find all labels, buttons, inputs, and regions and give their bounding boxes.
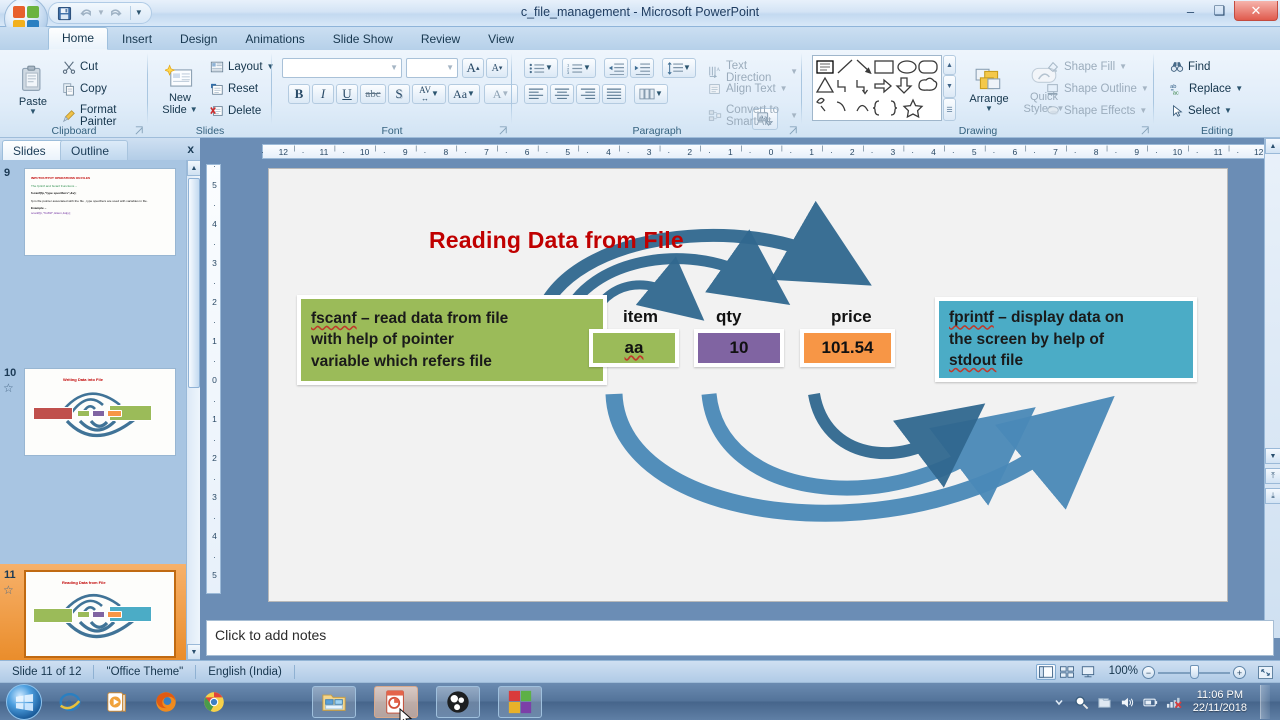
line-spacing-dropdown-icon[interactable]: ▼ bbox=[683, 64, 691, 72]
grow-font-label: A bbox=[467, 60, 476, 76]
font-size-dropdown-icon[interactable]: ▼ bbox=[446, 64, 454, 72]
close-button[interactable]: ✕ bbox=[1234, 1, 1278, 21]
font-color-dropdown-icon[interactable]: ▼ bbox=[501, 90, 509, 98]
tab-design[interactable]: Design bbox=[166, 27, 231, 50]
tab-review[interactable]: Review bbox=[407, 27, 474, 50]
vruler-tick: · bbox=[207, 513, 222, 523]
layout-icon bbox=[210, 60, 224, 74]
tab-insert[interactable]: Insert bbox=[108, 27, 166, 50]
hruler-tick: · bbox=[830, 147, 833, 157]
hruler-tick: · bbox=[424, 147, 427, 157]
replace-button[interactable]: abac Replace ▼ bbox=[1166, 80, 1247, 98]
font-dialog-launcher-icon[interactable] bbox=[498, 125, 509, 136]
cut-button[interactable]: Cut bbox=[58, 58, 102, 76]
vruler-tick: · bbox=[207, 200, 222, 210]
fprintf-stdout: stdout bbox=[949, 352, 996, 369]
status-bar: Slide 11 of 12 "Office Theme" English (I… bbox=[0, 660, 1280, 682]
normal-view-icon[interactable] bbox=[1036, 664, 1056, 680]
hruler-minor-tick: | bbox=[700, 146, 702, 152]
columns-dropdown-icon[interactable]: ▼ bbox=[655, 90, 663, 98]
svg-text:ac: ac bbox=[1173, 90, 1179, 96]
view-buttons[interactable] bbox=[1036, 664, 1098, 680]
windows-logo-icon bbox=[15, 693, 34, 712]
zoom-level: 100% bbox=[1109, 665, 1138, 677]
vruler-tick: · bbox=[207, 278, 222, 288]
minimize-button[interactable]: – bbox=[1176, 1, 1205, 21]
zoom-slider[interactable]: − + bbox=[1142, 665, 1246, 679]
hruler-label: 0 bbox=[766, 147, 776, 157]
text-direction-dropdown-icon[interactable]: ▼ bbox=[790, 68, 798, 76]
fscanf-line3: variable which refers file bbox=[311, 353, 492, 370]
fit-slide-to-window-icon[interactable] bbox=[1256, 664, 1274, 680]
increase-indent-button[interactable] bbox=[630, 58, 654, 78]
variable-value-item: aa bbox=[625, 338, 644, 358]
variable-label-price: price bbox=[831, 307, 872, 327]
vruler-tick: · bbox=[207, 161, 222, 171]
hruler-tick: · bbox=[1196, 147, 1199, 157]
hruler-minor-tick: | bbox=[781, 146, 783, 152]
grow-font-button[interactable]: A ▴ bbox=[462, 58, 484, 78]
align-text-dropdown-icon[interactable]: ▼ bbox=[780, 85, 788, 93]
system-tray[interactable]: 11:06 PM 22/11/2018 bbox=[1051, 683, 1278, 720]
line-spacing-icon bbox=[667, 62, 683, 75]
new-slide-button[interactable]: New Slide ▼ bbox=[156, 56, 204, 124]
hruler-label: 11 bbox=[319, 147, 329, 157]
new-slide-label-2: Slide bbox=[162, 104, 186, 116]
hruler-label: 11 bbox=[1213, 147, 1223, 157]
tab-animations[interactable]: Animations bbox=[231, 27, 318, 50]
align-text-button[interactable]: Align Text ▼ bbox=[704, 80, 792, 98]
hruler-minor-tick: | bbox=[659, 146, 661, 152]
hruler-tick: · bbox=[464, 147, 467, 157]
next-slide-button[interactable]: ⤓ bbox=[1265, 488, 1280, 504]
thumbnail-preview-9: INPUT/OUTPUT OPERATIONS ON FILES The fpr… bbox=[24, 168, 176, 256]
layout-label: Layout bbox=[228, 61, 263, 73]
smartart-dropdown-icon[interactable]: ▼ bbox=[790, 112, 798, 120]
hruler-minor-tick: | bbox=[578, 146, 580, 152]
previous-slide-button[interactable]: ⤒ bbox=[1265, 468, 1280, 484]
windows-explorer-icon[interactable] bbox=[312, 686, 356, 718]
hruler-minor-tick: | bbox=[1066, 146, 1068, 152]
clock-date: 22/11/2018 bbox=[1193, 702, 1247, 715]
vruler-tick: · bbox=[207, 317, 222, 327]
svg-text:e: e bbox=[66, 696, 72, 710]
arrange-dropdown-icon[interactable]: ▼ bbox=[985, 105, 993, 113]
ribbon-group-clipboard: Paste ▼ Cut Copy Format Painter bbox=[0, 50, 148, 138]
copy-button[interactable]: Copy bbox=[58, 80, 111, 98]
mini10-var-2 bbox=[92, 410, 105, 417]
vruler-tick: · bbox=[207, 396, 222, 406]
mini9-line-3: fscanf(fp,"type specifiers",&v); bbox=[31, 191, 169, 196]
italic-button[interactable]: I bbox=[312, 84, 334, 104]
font-size-input[interactable]: ▼ bbox=[406, 58, 458, 78]
slide-counter: Slide 11 of 12 bbox=[0, 664, 93, 680]
vruler-label: 1 bbox=[207, 414, 222, 424]
slide-title[interactable]: Reading Data from File bbox=[429, 227, 684, 254]
shape-outline-dropdown-icon[interactable]: ▼ bbox=[1141, 85, 1149, 93]
hruler-minor-tick: | bbox=[1106, 146, 1108, 152]
firefox-icon[interactable] bbox=[144, 686, 188, 718]
hruler-minor-tick: | bbox=[862, 146, 864, 152]
thumbnail-scroll-thumb[interactable] bbox=[188, 178, 200, 388]
hruler-minor-tick: | bbox=[944, 146, 946, 152]
hruler-minor-tick: | bbox=[456, 146, 458, 152]
hruler-tick: · bbox=[1033, 147, 1036, 157]
variable-box-qty[interactable]: 10 bbox=[694, 329, 784, 367]
shape-fill-icon bbox=[1046, 60, 1060, 74]
scissors-icon bbox=[62, 60, 76, 74]
reset-button[interactable]: Reset bbox=[206, 80, 262, 98]
ribbon-group-slides: New Slide ▼ Layout ▼ Reset bbox=[148, 50, 272, 138]
paste-dropdown-icon[interactable]: ▼ bbox=[29, 108, 37, 116]
hruler-minor-tick: | bbox=[903, 146, 905, 152]
select-dropdown-icon[interactable]: ▼ bbox=[1224, 107, 1232, 115]
hruler-label: 4 bbox=[929, 147, 939, 157]
tab-view[interactable]: View bbox=[474, 27, 528, 50]
thumbnail-number-10: 10 bbox=[4, 367, 16, 379]
text-direction-icon: A bbox=[708, 65, 722, 79]
hruler-tick: · bbox=[993, 147, 996, 157]
battery-icon[interactable] bbox=[1143, 694, 1159, 710]
hruler-label: 1 bbox=[807, 147, 817, 157]
align-center-icon bbox=[554, 88, 570, 100]
colored-squares-app-icon[interactable] bbox=[498, 686, 542, 718]
arrange-button[interactable]: Arrange ▼ bbox=[962, 56, 1016, 124]
find-button[interactable]: Find bbox=[1166, 58, 1214, 76]
bullets-button[interactable]: ▼ bbox=[524, 58, 558, 78]
hruler-minor-tick: | bbox=[415, 146, 417, 152]
copy-icon bbox=[62, 82, 76, 96]
variable-box-price[interactable]: 101.54 bbox=[800, 329, 895, 367]
shapes-scroll-up-icon[interactable]: ▲ bbox=[943, 55, 956, 75]
text-shadow-button[interactable]: S bbox=[388, 84, 410, 104]
fscanf-box-text: fscanf – read data from file with help o… bbox=[301, 302, 518, 378]
align-text-label: Align Text bbox=[726, 83, 776, 95]
slide-scroll-up-icon[interactable]: ▲ bbox=[1265, 138, 1280, 154]
onedrive-icon[interactable] bbox=[1097, 694, 1113, 710]
shapes-more-icon[interactable]: ☰ bbox=[943, 98, 956, 121]
zoom-in-button[interactable]: + bbox=[1233, 666, 1246, 679]
thumbnail-number-11: 11 bbox=[4, 569, 16, 581]
notes-placeholder: Click to add notes bbox=[207, 621, 1273, 649]
mini11-var-1 bbox=[77, 611, 90, 618]
vruler-label: 3 bbox=[207, 258, 222, 268]
slide-vertical-scrollbar[interactable]: ▲ ▼ ⤒ ⤓ bbox=[1264, 138, 1280, 638]
slides-panel: Slides Outline x 9 INPUT/OUTPUT OPERATIO… bbox=[0, 138, 200, 660]
hruler-label: 6 bbox=[522, 147, 532, 157]
svg-text:A: A bbox=[716, 67, 720, 73]
columns-button[interactable]: ▼ bbox=[634, 84, 668, 104]
hruler-tick: · bbox=[586, 147, 589, 157]
hruler-tick: · bbox=[749, 147, 752, 157]
vruler-label: 0 bbox=[207, 375, 222, 385]
svg-text:ab: ab bbox=[1170, 84, 1176, 90]
slide-scroll-down-icon[interactable]: ▼ bbox=[1265, 448, 1280, 464]
hruler-tick: · bbox=[952, 147, 955, 157]
delete-slide-button[interactable]: Delete bbox=[206, 102, 265, 120]
windows-media-player-icon[interactable] bbox=[96, 686, 140, 718]
variable-label-item: item bbox=[623, 307, 658, 327]
fprintf-box-text: fprintf – display data on the screen by … bbox=[939, 301, 1134, 377]
thumbnail-scroll-up-icon[interactable]: ▲ bbox=[187, 160, 201, 176]
slide-show-icon[interactable] bbox=[1078, 664, 1098, 680]
hruler-minor-tick: | bbox=[1228, 146, 1230, 152]
hruler-minor-tick: | bbox=[1025, 146, 1027, 152]
hruler-label: 2 bbox=[685, 147, 695, 157]
notes-pane[interactable]: Click to add notes bbox=[206, 620, 1274, 656]
fprintf-line3-rest: file bbox=[996, 352, 1023, 369]
language-indicator[interactable]: English (India) bbox=[196, 664, 294, 680]
ribbon-group-drawing: ▲ ▼ ☰ Arrange ▼ Quick bbox=[802, 50, 1154, 138]
chrome-icon[interactable] bbox=[192, 686, 236, 718]
window-controls[interactable]: – ❑ ✕ bbox=[1176, 1, 1278, 21]
shadow-label: S bbox=[395, 86, 402, 102]
hruler-tick: · bbox=[911, 147, 914, 157]
fprintf-keyword: fprintf bbox=[949, 309, 994, 326]
slides-panel-tabs: Slides Outline x bbox=[0, 138, 200, 160]
mouse-cursor-icon bbox=[399, 708, 413, 720]
font-name-dropdown-icon[interactable]: ▼ bbox=[390, 64, 398, 72]
mini9-line-2: The fprintf and fscanf Functions – bbox=[31, 184, 169, 189]
start-button[interactable] bbox=[6, 684, 42, 720]
maximize-button[interactable]: ❑ bbox=[1205, 1, 1234, 21]
font-group-label: Font bbox=[272, 125, 512, 137]
slide-editing-area: 12·|11·|10·|9·|8·|7·|6·|5·|4·|3·|2·|1·|0… bbox=[200, 138, 1280, 660]
bold-button[interactable]: B bbox=[288, 84, 310, 104]
shapes-scroll-down-icon[interactable]: ▼ bbox=[943, 75, 956, 98]
cursor-arrow-icon bbox=[1170, 104, 1184, 118]
clipboard-dialog-launcher-icon[interactable] bbox=[134, 125, 145, 136]
new-slide-dropdown-icon[interactable]: ▼ bbox=[190, 106, 198, 114]
vruler-label: 4 bbox=[207, 219, 222, 229]
drawing-group-label: Drawing bbox=[802, 125, 1154, 137]
close-panel-icon[interactable]: x bbox=[187, 142, 194, 156]
change-case-dropdown-icon[interactable]: ▼ bbox=[467, 90, 475, 98]
tab-slide-show[interactable]: Slide Show bbox=[319, 27, 407, 50]
tab-outline[interactable]: Outline bbox=[60, 140, 128, 160]
slide-thumbnail-list[interactable]: 9 INPUT/OUTPUT OPERATIONS ON FILES The f… bbox=[0, 160, 186, 660]
zoom-handle[interactable] bbox=[1190, 665, 1199, 679]
character-spacing-dropdown-icon[interactable]: ▼ bbox=[431, 90, 439, 98]
hruler-tick: · bbox=[871, 147, 874, 157]
tab-home[interactable]: Home bbox=[48, 27, 108, 50]
columns-icon bbox=[639, 88, 655, 100]
bullets-icon bbox=[529, 62, 545, 75]
paragraph-group-label: Paragraph bbox=[512, 125, 802, 137]
vruler-tick: · bbox=[207, 552, 222, 562]
hruler-minor-tick: | bbox=[537, 146, 539, 152]
variable-value-price: 101.54 bbox=[822, 338, 874, 358]
numbering-button[interactable]: 123 ▼ bbox=[562, 58, 596, 78]
hruler-minor-tick: | bbox=[1147, 146, 1149, 152]
hruler-minor-tick: | bbox=[741, 146, 743, 152]
thumbnail-preview-10: Writing Data into File bbox=[24, 368, 176, 456]
hruler-tick: · bbox=[789, 147, 792, 157]
shape-fill-button[interactable]: Shape Fill ▼ bbox=[1042, 58, 1131, 76]
paragraph-dialog-launcher-icon[interactable] bbox=[788, 125, 799, 136]
replace-dropdown-icon[interactable]: ▼ bbox=[1235, 85, 1243, 93]
binoculars-icon bbox=[1170, 60, 1184, 74]
justify-icon bbox=[606, 88, 622, 100]
hruler-label: 7 bbox=[1050, 147, 1060, 157]
strikethrough-button[interactable]: abc bbox=[360, 84, 386, 104]
thumbnail-slide-9[interactable]: 9 INPUT/OUTPUT OPERATIONS ON FILES The f… bbox=[0, 162, 186, 263]
vruler-label: 5 bbox=[207, 570, 222, 580]
magnifier-icon[interactable] bbox=[1074, 694, 1090, 710]
mini11-var-2 bbox=[92, 611, 105, 618]
shape-effects-button[interactable]: Shape Effects ▼ bbox=[1042, 102, 1151, 120]
horizontal-ruler: 12·|11·|10·|9·|8·|7·|6·|5·|4·|3·|2·|1·|0… bbox=[262, 144, 1278, 159]
mini10-var-1 bbox=[77, 410, 90, 417]
replace-label: Replace bbox=[1189, 83, 1231, 95]
shapes-gallery-scrollbar[interactable]: ▲ ▼ ☰ bbox=[943, 55, 956, 121]
paintbrush-icon bbox=[62, 109, 76, 123]
italic-label: I bbox=[321, 86, 325, 102]
obs-studio-icon[interactable] bbox=[436, 686, 480, 718]
character-spacing-button[interactable]: AV↔ ▼ bbox=[412, 84, 446, 104]
numbering-icon: 123 bbox=[567, 62, 583, 75]
shape-outline-button[interactable]: Shape Outline ▼ bbox=[1042, 80, 1153, 98]
reset-icon bbox=[210, 82, 224, 96]
thumbnail-scroll-down-icon[interactable]: ▼ bbox=[187, 644, 201, 660]
shape-effects-dropdown-icon[interactable]: ▼ bbox=[1139, 107, 1147, 115]
line-spacing-button[interactable]: ▼ bbox=[662, 58, 696, 78]
select-button[interactable]: Select ▼ bbox=[1166, 102, 1236, 120]
ribbon: Paste ▼ Cut Copy Format Painter bbox=[0, 50, 1280, 138]
title-bar: ▼ ▼ c_file_management - Microsoft PowerP… bbox=[0, 0, 1280, 27]
align-text-icon bbox=[708, 82, 722, 96]
hidden-icons-icon[interactable] bbox=[1051, 694, 1067, 710]
paste-button[interactable]: Paste ▼ bbox=[8, 56, 58, 124]
find-label: Find bbox=[1188, 61, 1210, 73]
thumbnail-scrollbar[interactable]: ▲ ▼ bbox=[186, 160, 200, 660]
paste-label: Paste bbox=[19, 96, 47, 108]
taskbar-clock[interactable]: 11:06 PM 22/11/2018 bbox=[1189, 689, 1251, 715]
variable-value-qty: 10 bbox=[730, 338, 749, 358]
vruler-label: 3 bbox=[207, 492, 222, 502]
decrease-indent-button[interactable] bbox=[604, 58, 628, 78]
smartart-icon bbox=[708, 109, 722, 123]
volume-icon[interactable] bbox=[1120, 694, 1136, 710]
hruler-label: 1 bbox=[725, 147, 735, 157]
paste-icon bbox=[19, 65, 47, 95]
underline-button[interactable]: U bbox=[336, 84, 358, 104]
font-name-input[interactable]: ▼ bbox=[282, 58, 402, 78]
align-center-button[interactable] bbox=[550, 84, 574, 104]
decrease-indent-icon bbox=[608, 62, 624, 75]
hruler-minor-tick: | bbox=[822, 146, 824, 152]
shape-outline-label: Shape Outline bbox=[1064, 83, 1137, 95]
fprintf-description-box[interactable]: fprintf – display data on the screen by … bbox=[935, 297, 1197, 382]
delete-label: Delete bbox=[228, 105, 261, 117]
taskbar: e bbox=[0, 682, 1280, 720]
zoom-out-button[interactable]: − bbox=[1142, 666, 1155, 679]
hruler-minor-tick: | bbox=[1188, 146, 1190, 152]
theme-name[interactable]: "Office Theme" bbox=[94, 664, 195, 680]
justify-button[interactable] bbox=[602, 84, 626, 104]
tab-slides[interactable]: Slides bbox=[2, 140, 64, 160]
hruler-tick: · bbox=[627, 147, 630, 157]
network-icon[interactable] bbox=[1166, 694, 1182, 710]
fscanf-description-box[interactable]: fscanf – read data from file with help o… bbox=[297, 295, 607, 385]
hruler-label: 6 bbox=[1010, 147, 1020, 157]
mini11-var-3 bbox=[107, 611, 122, 618]
hruler-label: 3 bbox=[644, 147, 654, 157]
variable-label-qty: qty bbox=[716, 307, 742, 327]
hruler-minor-tick: | bbox=[619, 146, 621, 152]
change-case-button[interactable]: Aa ▼ bbox=[448, 84, 480, 104]
hruler-tick: · bbox=[1236, 147, 1239, 157]
hruler-tick: · bbox=[545, 147, 548, 157]
animation-star-icon-11: ☆ bbox=[3, 583, 14, 597]
hruler-label: 3 bbox=[888, 147, 898, 157]
mini-slide-9: INPUT/OUTPUT OPERATIONS ON FILES The fpr… bbox=[25, 169, 175, 255]
copy-label: Copy bbox=[80, 83, 107, 95]
hruler-label: 9 bbox=[400, 147, 410, 157]
internet-explorer-icon[interactable]: e bbox=[48, 686, 92, 718]
layout-button[interactable]: Layout ▼ bbox=[206, 58, 278, 76]
hruler-label: 12 bbox=[278, 147, 288, 157]
reset-label: Reset bbox=[228, 83, 258, 95]
hruler-label: 10 bbox=[360, 147, 370, 157]
strikethrough-label: abc bbox=[365, 88, 380, 100]
vruler-tick: · bbox=[207, 435, 222, 445]
window-title: c_file_management - Microsoft PowerPoint bbox=[0, 5, 1280, 19]
shape-effects-icon bbox=[1046, 104, 1060, 118]
shapes-gallery[interactable] bbox=[812, 55, 942, 121]
select-label: Select bbox=[1188, 105, 1220, 117]
slide-canvas[interactable]: Reading Data from File fscanf – read dat… bbox=[268, 168, 1228, 602]
cut-label: Cut bbox=[80, 61, 98, 73]
slide-sorter-icon[interactable] bbox=[1057, 664, 1077, 680]
thumbnail-number-9: 9 bbox=[4, 167, 10, 179]
shrink-font-label: A bbox=[492, 63, 499, 74]
shrink-font-button[interactable]: A ▾ bbox=[486, 58, 508, 78]
bold-label: B bbox=[295, 86, 304, 102]
shape-fill-dropdown-icon[interactable]: ▼ bbox=[1119, 63, 1127, 71]
clock-time: 11:06 PM bbox=[1197, 689, 1243, 702]
arrange-icon bbox=[974, 67, 1004, 93]
hruler-label: 8 bbox=[441, 147, 451, 157]
show-desktop-button[interactable] bbox=[1260, 685, 1270, 719]
thumbnail-slide-11[interactable]: 11 ☆ Reading Data from File bbox=[0, 564, 186, 660]
align-left-button[interactable] bbox=[524, 84, 548, 104]
numbering-dropdown-icon[interactable]: ▼ bbox=[583, 64, 591, 72]
ribbon-group-font: ▼ ▼ A ▴ A ▾ B I U bbox=[272, 50, 512, 138]
hruler-label: 9 bbox=[1132, 147, 1142, 157]
mini9-line-1: INPUT/OUTPUT OPERATIONS ON FILES bbox=[31, 176, 169, 181]
vruler-tick: · bbox=[207, 474, 222, 484]
underline-label: U bbox=[342, 86, 351, 102]
variable-box-item[interactable]: aa bbox=[589, 329, 679, 367]
hruler-tick: · bbox=[1074, 147, 1077, 157]
hruler-minor-tick: | bbox=[293, 146, 295, 152]
vruler-label: 4 bbox=[207, 531, 222, 541]
mini-slide-10: Writing Data into File bbox=[25, 369, 175, 455]
svg-text:3: 3 bbox=[567, 70, 570, 75]
hruler-tick: · bbox=[1155, 147, 1158, 157]
align-right-button[interactable] bbox=[576, 84, 600, 104]
thumbnail-slide-10[interactable]: 10 ☆ Writing Data into File bbox=[0, 362, 186, 463]
align-left-icon bbox=[528, 88, 544, 100]
ribbon-group-editing: Find abac Replace ▼ Select ▼ Editing bbox=[1154, 50, 1280, 138]
shape-effects-label: Shape Effects bbox=[1064, 105, 1135, 117]
bullets-dropdown-icon[interactable]: ▼ bbox=[545, 64, 553, 72]
slides-group-label: Slides bbox=[148, 125, 272, 137]
hruler-minor-tick: | bbox=[375, 146, 377, 152]
hruler-tick: · bbox=[1114, 147, 1117, 157]
drawing-dialog-launcher-icon[interactable] bbox=[1140, 125, 1151, 136]
